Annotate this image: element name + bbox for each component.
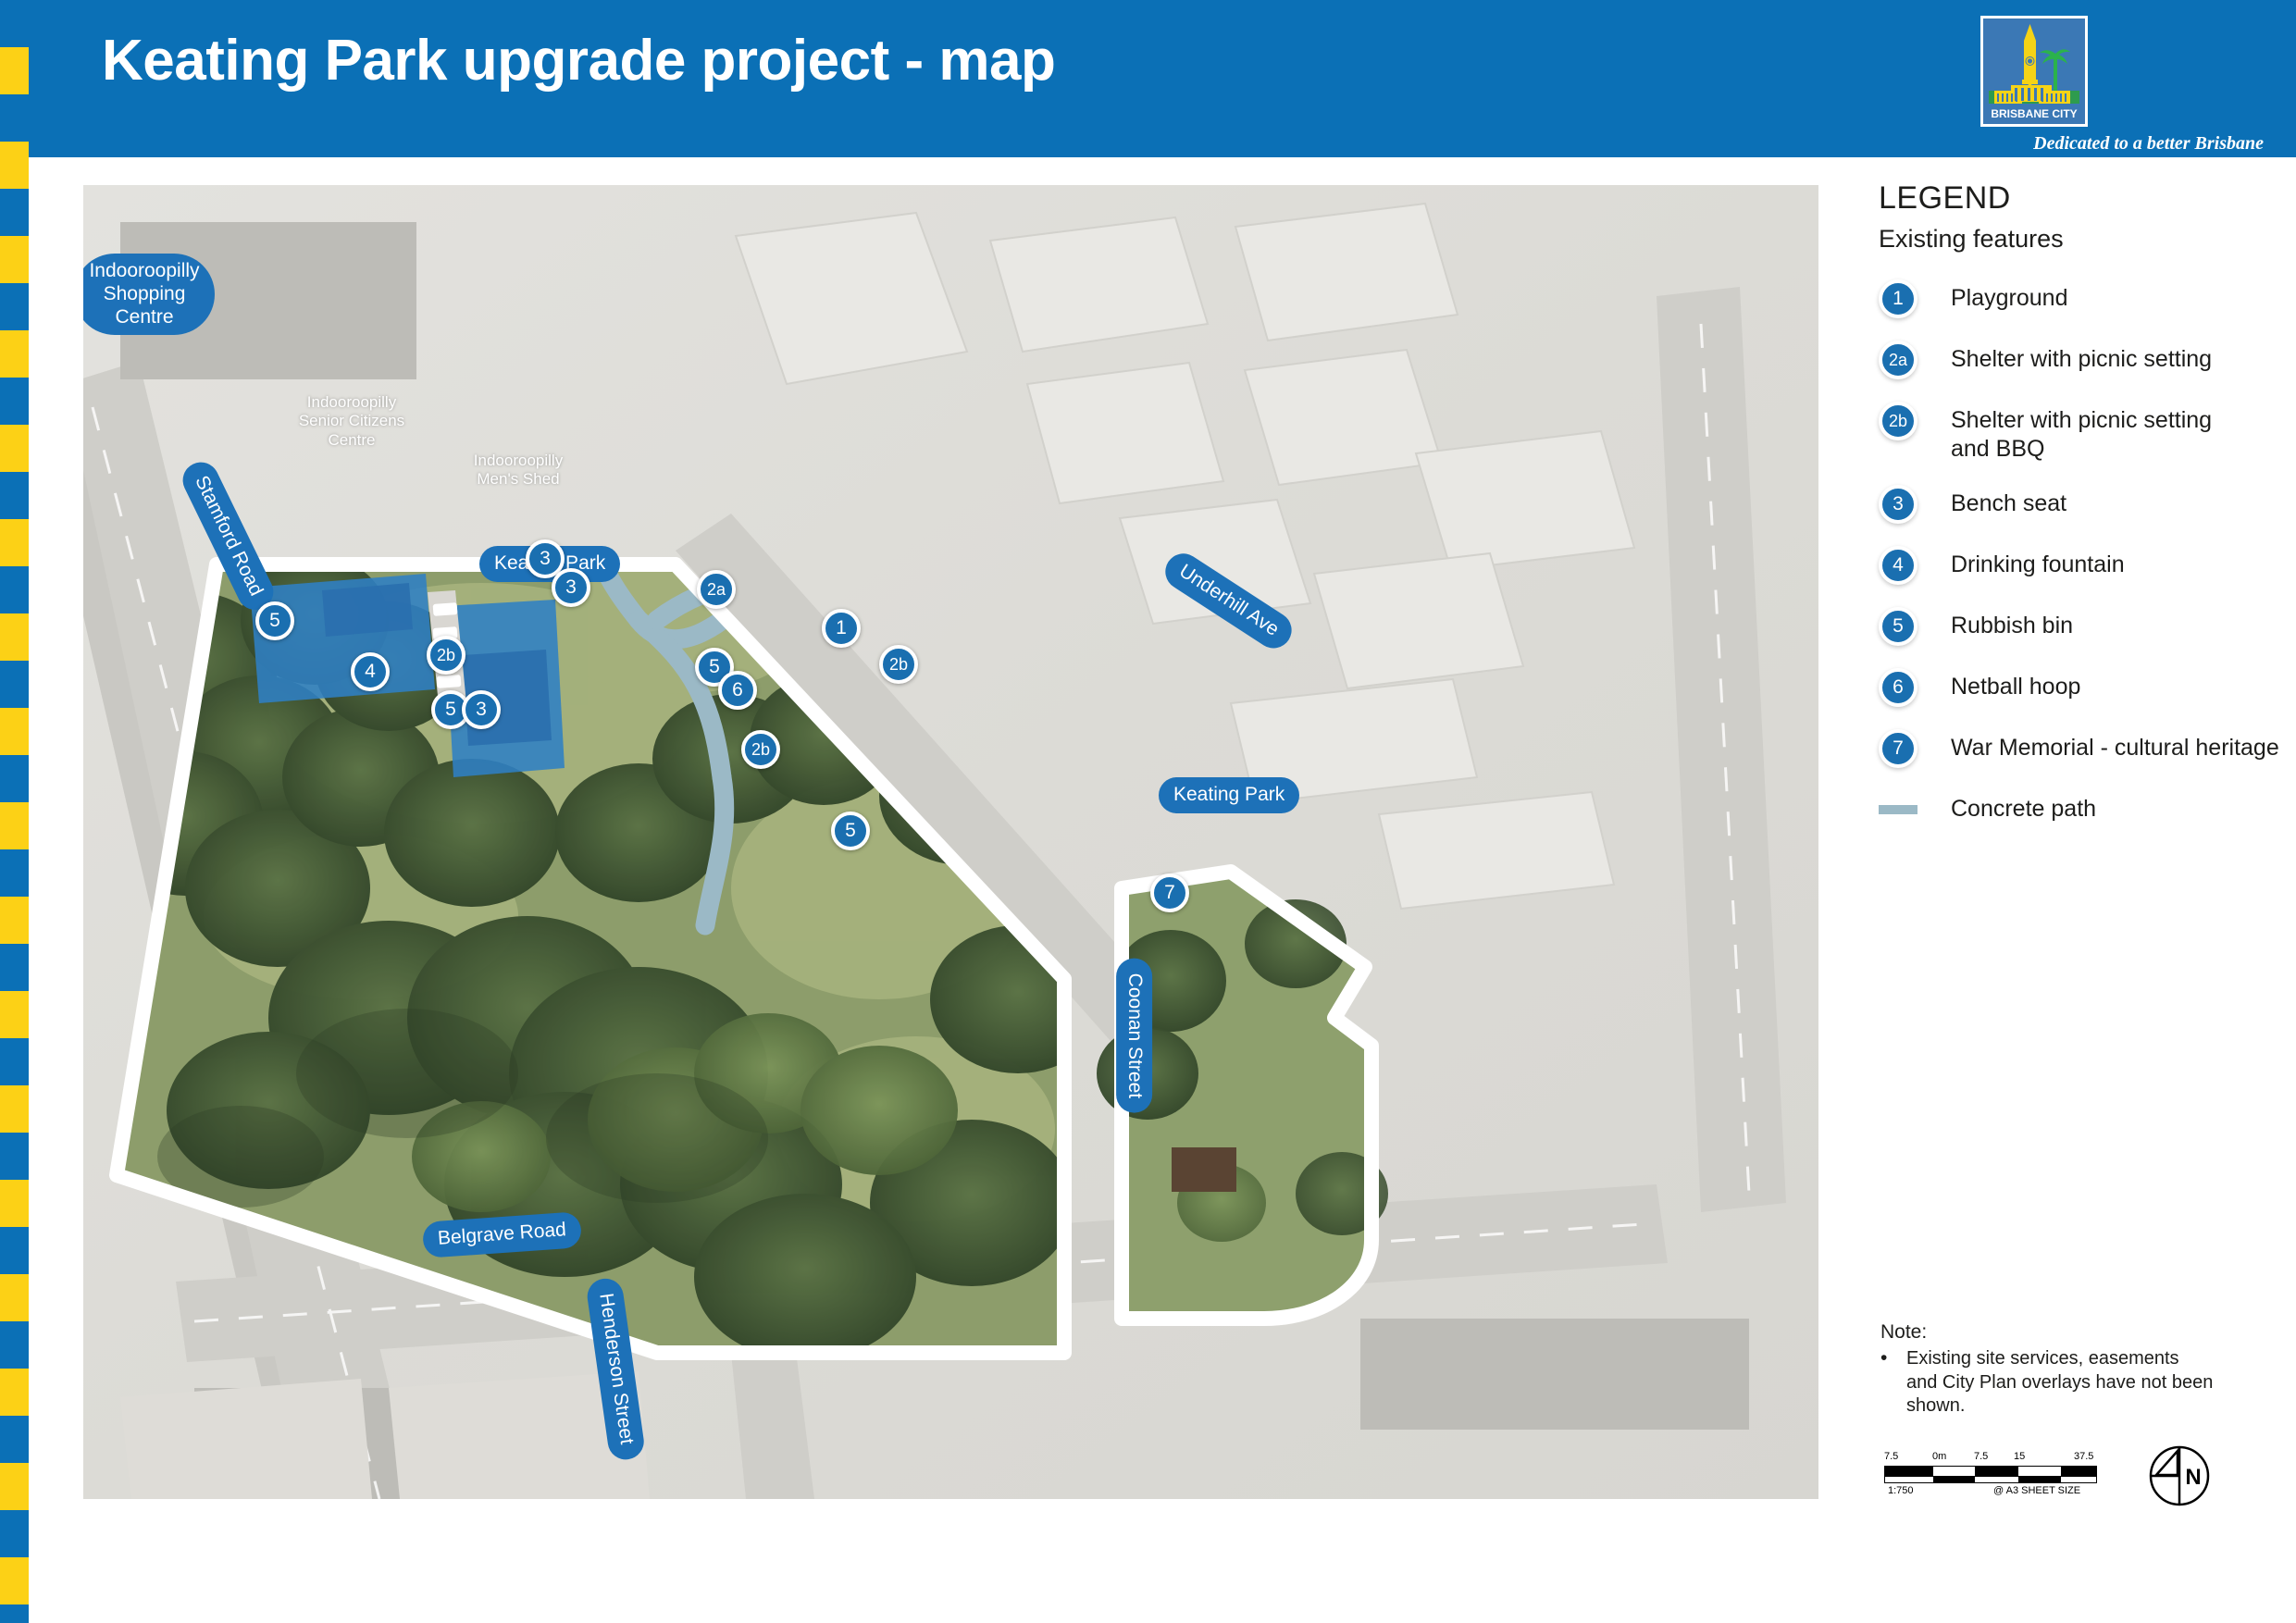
legend-item-concrete-path: Concrete path (1879, 790, 2277, 829)
page-header: Keating Park upgrade project - map (0, 0, 2296, 157)
map-marker-2b[interactable]: 2b (741, 730, 780, 769)
legend-label-shelter-picnic: Shelter with picnic setting (1951, 341, 2212, 374)
map-marker-3[interactable]: 3 (462, 690, 501, 729)
legend-label-netball-hoop: Netball hoop (1951, 668, 2080, 701)
map-marker-5[interactable]: 5 (255, 601, 294, 640)
scale-tick-3: 15 (2014, 1451, 2025, 1462)
map-marker-3[interactable]: 3 (552, 568, 590, 607)
note-text: Existing site services, easements and Ci… (1906, 1347, 2213, 1419)
logo-wordmark: BRISBANE CITY (1991, 107, 2077, 120)
legend-chip-5: 5 (1879, 607, 1917, 646)
legend-chip-2a: 2a (1879, 341, 1917, 379)
north-arrow-icon: N (2147, 1443, 2212, 1508)
map-label-keating-park-east: Keating Park (1159, 777, 1299, 813)
legend-label-bench-seat: Bench seat (1951, 485, 2066, 518)
legend-chip-2b: 2b (1879, 402, 1917, 440)
scale-bar: 7.5 0m 7.5 15 37.5 1:750 @ A3 SHEET SIZE (1884, 1451, 2106, 1500)
legend-item-shelter-picnic: 2a Shelter with picnic setting (1879, 341, 2277, 379)
map-label-senior-citizens-centre: Indooroopilly Senior Citizens Centre (268, 393, 435, 450)
legend-item-bench-seat: 3 Bench seat (1879, 485, 2277, 524)
city-hall-icon: BRISBANE CITY (1983, 19, 2085, 124)
legend-item-netball-hoop: 6 Netball hoop (1879, 668, 2277, 707)
scale-tick-labels: 7.5 0m 7.5 15 37.5 (1884, 1451, 2106, 1466)
legend-chip-3: 3 (1879, 485, 1917, 524)
legend-label-shelter-picnic-bbq: Shelter with picnic setting and BBQ (1951, 402, 2256, 463)
logo-tagline: Dedicated to a better Brisbane (2033, 133, 2264, 155)
map-marker-4[interactable]: 4 (351, 652, 390, 691)
legend-chip-6: 6 (1879, 668, 1917, 707)
legend-item-playground: 1 Playground (1879, 279, 2277, 318)
scale-footnotes: 1:750 @ A3 SHEET SIZE (1884, 1485, 2106, 1500)
map-graphic (83, 185, 1818, 1499)
legend-item-rubbish-bin: 5 Rubbish bin (1879, 607, 2277, 646)
brand-stripe (0, 0, 29, 1623)
map-label-mens-shed: Indooroopilly Men's Shed (444, 452, 592, 489)
scale-tick-0: 7.5 (1884, 1451, 1898, 1462)
map-marker-5[interactable]: 5 (831, 811, 870, 850)
map-label-indooroopilly-shopping-centre: Indooroopilly Shopping Centre (83, 254, 215, 335)
legend-item-drinking-fountain: 4 Drinking fountain (1879, 546, 2277, 585)
legend-label-rubbish-bin: Rubbish bin (1951, 607, 2073, 640)
map-marker-6[interactable]: 6 (718, 671, 757, 710)
svg-text:N: N (2185, 1465, 2201, 1490)
legend-items: 1 Playground 2a Shelter with picnic sett… (1879, 279, 2277, 829)
note-block: Note: • Existing site services, easement… (1880, 1321, 2269, 1419)
scale-bar-upper (1884, 1466, 2097, 1477)
brisbane-city-crest: BRISBANE CITY (1980, 16, 2088, 127)
note-bullet: • (1880, 1347, 1906, 1419)
note-title: Note: (1880, 1321, 2269, 1344)
map-label-coonan-street: Coonan Street (1116, 959, 1152, 1113)
legend-label-playground: Playground (1951, 279, 2067, 313)
aerial-map[interactable]: Indooroopilly Shopping Centre Stamford R… (83, 185, 1818, 1499)
concrete-path-swatch (1879, 790, 1917, 829)
map-marker-2b[interactable]: 2b (879, 645, 918, 684)
legend-item-shelter-picnic-bbq: 2b Shelter with picnic setting and BBQ (1879, 402, 2277, 463)
legend-label-concrete-path: Concrete path (1951, 790, 2096, 824)
legend: LEGEND Existing features 1 Playground 2a… (1879, 180, 2277, 851)
legend-chip-7: 7 (1879, 729, 1917, 768)
legend-item-war-memorial: 7 War Memorial - cultural heritage (1879, 729, 2277, 768)
scale-tick-2: 7.5 (1974, 1451, 1988, 1462)
scale-tick-1: 0m (1932, 1451, 1946, 1462)
legend-title: LEGEND (1879, 180, 2277, 217)
map-marker-2b[interactable]: 2b (427, 636, 465, 675)
legend-label-drinking-fountain: Drinking fountain (1951, 546, 2125, 579)
legend-chip-4: 4 (1879, 546, 1917, 585)
scale-ratio: 1:750 (1888, 1485, 1914, 1496)
brisbane-city-logo: BRISBANE CITY Dedicated to a better Bris… (1866, 11, 2273, 150)
scale-sheet-size: @ A3 SHEET SIZE (1993, 1485, 2080, 1496)
scale-tick-4: 37.5 (2074, 1451, 2093, 1462)
legend-label-war-memorial: War Memorial - cultural heritage (1951, 729, 2279, 762)
map-marker-7[interactable]: 7 (1150, 873, 1189, 912)
legend-chip-1: 1 (1879, 279, 1917, 318)
map-marker-2a[interactable]: 2a (697, 570, 736, 609)
scale-bar-lower (1884, 1477, 2097, 1483)
legend-subtitle: Existing features (1879, 225, 2277, 254)
page-title: Keating Park upgrade project - map (102, 28, 1055, 93)
map-marker-1[interactable]: 1 (822, 609, 861, 648)
